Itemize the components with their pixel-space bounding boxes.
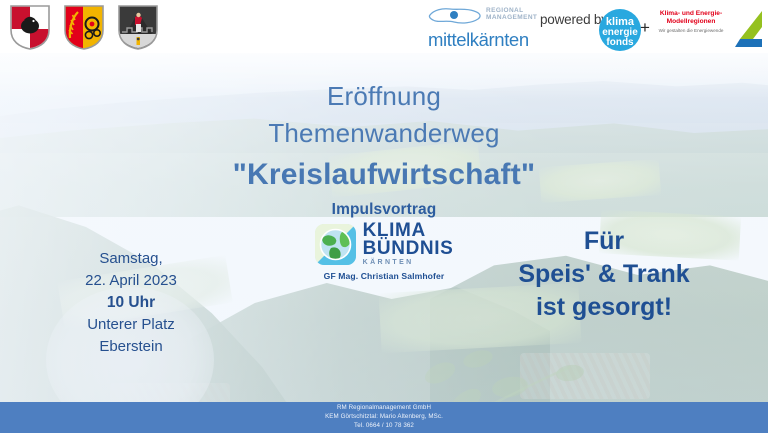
regionalmanagement-subtitle: REGIONAL MANAGEMENT (486, 8, 537, 22)
catering-line-1: Für (488, 225, 720, 258)
event-poster: REGIONAL MANAGEMENT mittelkärnten powere… (0, 0, 768, 433)
footer-bar: RM Regionalmanagement GmbH KEM Görtschit… (0, 402, 768, 433)
klimabuendnis-logo: KLIMA BÜNDNIS KÄRNTEN (315, 222, 454, 267)
kb-word-2: BÜNDNIS (363, 240, 454, 258)
kem-logo: Klima- und Energie- Modellregionen Wir g… (652, 8, 764, 50)
kem-line2: Modellregionen (652, 18, 730, 26)
plus-sign: + (640, 18, 650, 38)
poster-content: Eröffnung Themenwanderweg "Kreislaufwirt… (0, 53, 768, 433)
regionalmanagement-logo: REGIONAL MANAGEMENT mittelkärnten (428, 6, 540, 50)
rm-wordmark: mittelkärnten (428, 29, 540, 51)
catering-note: Für Speis' & Trank ist gesorgt! (488, 225, 720, 324)
catering-line-2: Speis' & Trank (488, 258, 720, 291)
event-date: 22. April 2023 (48, 270, 214, 292)
footer-line-1: RM Regionalmanagement GmbH (337, 404, 431, 413)
klimaenergiefonds-logo: klima energie fonds (598, 8, 642, 52)
klimabuendnis-wordmark: KLIMA BÜNDNIS KÄRNTEN (363, 222, 454, 267)
event-place: Unterer Platz (48, 314, 214, 336)
crest-eberstein-icon (8, 4, 52, 50)
kem-tagline: Wir gestalten die Energiewende (652, 28, 730, 33)
footer-line-2: KEM Görtschitztal: Mario Altenberg, MSc. (325, 413, 443, 422)
kem-line1: Klima- und Energie- (652, 10, 730, 18)
crest-klein-st-paul-icon (62, 4, 106, 50)
event-town: Eberstein (48, 336, 214, 358)
globe-icon (315, 224, 356, 265)
title-line-1: Eröffnung (0, 78, 768, 115)
crest-brueckl-icon (116, 4, 160, 50)
footer-line-3: Tel. 0664 / 10 78 362 (354, 422, 414, 431)
event-time: 10 Uhr (48, 292, 214, 314)
event-details: Samstag, 22. April 2023 10 Uhr Unterer P… (48, 248, 214, 357)
region-outline-icon (428, 6, 484, 26)
impulsvortrag-label: Impulsvortrag (0, 201, 768, 219)
rm-line2: MANAGEMENT (486, 15, 537, 22)
kb-word-3: KÄRNTEN (363, 260, 454, 267)
poster-title: Eröffnung Themenwanderweg "Kreislaufwirt… (0, 78, 768, 192)
title-line-3: "Kreislaufwirtschaft" (0, 158, 768, 192)
municipal-crests (8, 4, 160, 50)
catering-line-3: ist gesorgt! (488, 291, 720, 324)
event-day: Samstag, (48, 248, 214, 270)
title-line-2: Themenwanderweg (0, 115, 768, 152)
header-bar: REGIONAL MANAGEMENT mittelkärnten powere… (0, 0, 768, 53)
svg-text:fonds: fonds (606, 37, 634, 48)
kem-mark-icon (732, 9, 764, 49)
